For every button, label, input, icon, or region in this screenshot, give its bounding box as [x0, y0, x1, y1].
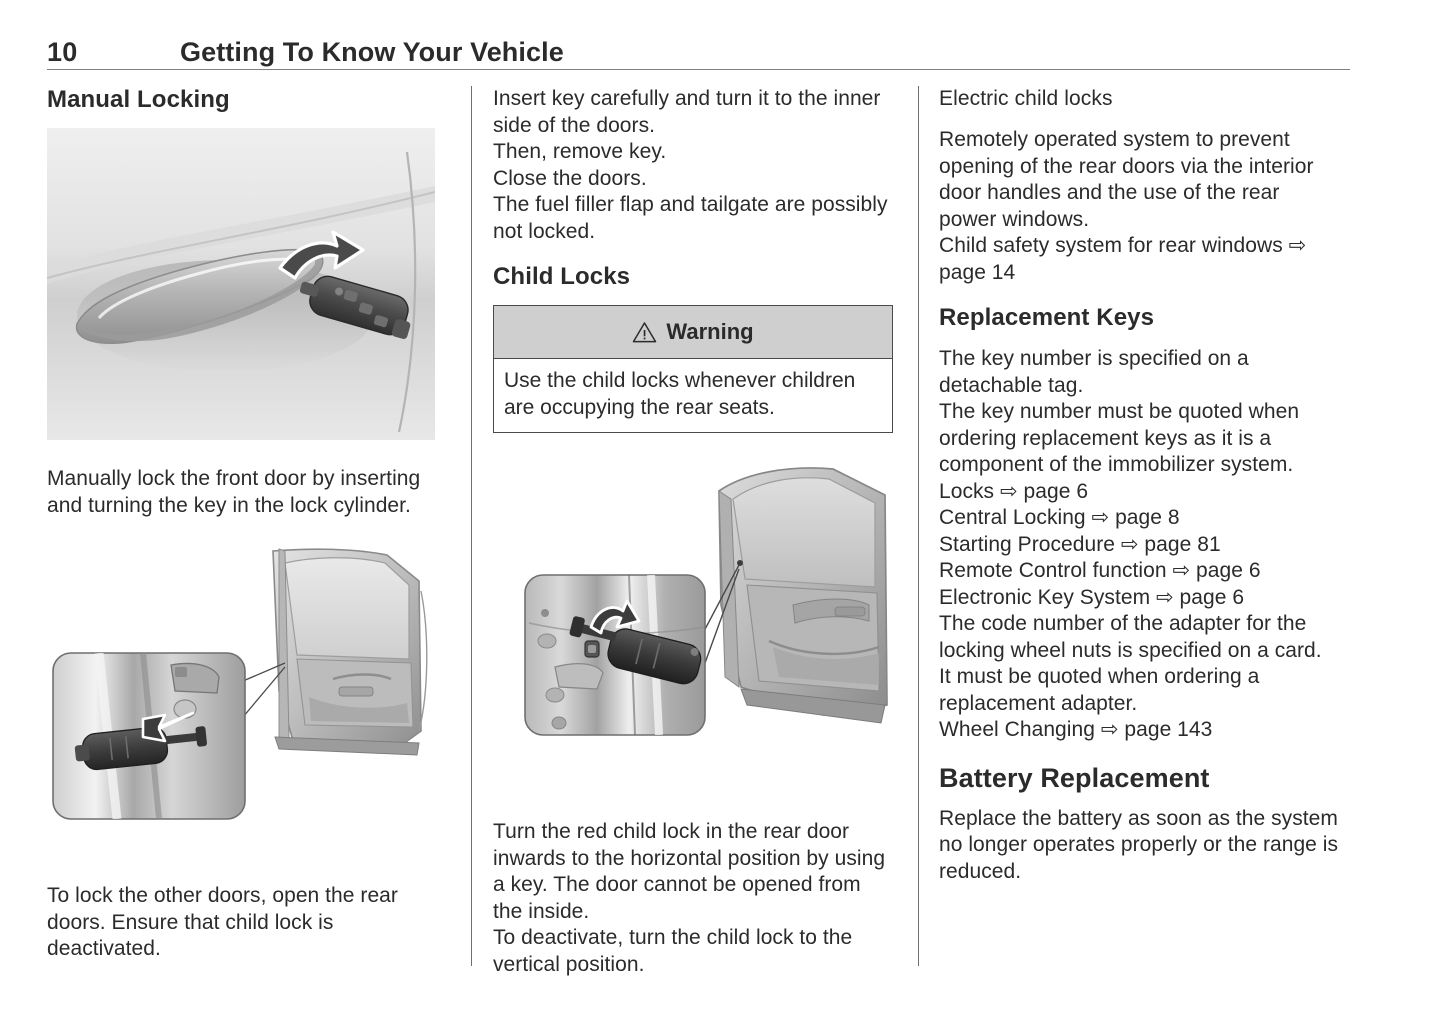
- page-title: Getting To Know Your Vehicle: [180, 36, 564, 68]
- warning-box-body: Use the child locks whenever children ar…: [494, 359, 892, 432]
- header-divider-rule: [47, 69, 1350, 70]
- heading-child-locks: Child Locks: [493, 263, 895, 291]
- paragraph-remote-operated-system: Remotely operated system to prevent open…: [939, 127, 1339, 233]
- figure-door-jamb-lock: [47, 541, 437, 841]
- figure-door-handle-key: [47, 128, 435, 440]
- paragraph-key-number-quoted: The key number must be quoted when order…: [939, 399, 1339, 479]
- crossref-electronic-key-system: Electronic Key System ⇨ page 6: [939, 585, 1339, 612]
- warning-triangle-icon: [632, 321, 657, 343]
- warning-box: Warning Use the child locks whenever chi…: [493, 305, 893, 433]
- crossref-starting-procedure: Starting Procedure ⇨ page 81: [939, 532, 1339, 559]
- paragraph-deactivate-child-lock: To deactivate, turn the child lock to th…: [493, 925, 895, 978]
- subheading-electric-child-locks: Electric child locks: [939, 86, 1339, 111]
- warning-box-header: Warning: [494, 306, 892, 359]
- paragraph-remove-key: Then, remove key.: [493, 139, 895, 166]
- door-handle-key-illustration: [47, 128, 435, 440]
- paragraph-lock-other-doors: To lock the other doors, open the rear d…: [47, 883, 442, 963]
- crossref-locks: Locks ⇨ page 6: [939, 479, 1339, 506]
- warning-title: Warning: [666, 319, 753, 345]
- paragraph-fuel-flap-tailgate: The fuel filler flap and tailgate are po…: [493, 192, 895, 245]
- crossref-central-locking: Central Locking ⇨ page 8: [939, 505, 1339, 532]
- page-header: 10 Getting To Know Your Vehicle: [47, 36, 1350, 70]
- rear-door-child-lock-illustration: [493, 455, 893, 775]
- column-divider-left: [471, 86, 472, 966]
- heading-battery-replacement: Battery Replacement: [939, 762, 1339, 794]
- right-column: Electric child locks Remotely operated s…: [939, 86, 1339, 885]
- crossref-child-safety-system: Child safety system for rear windows ⇨ p…: [939, 233, 1339, 286]
- paragraph-insert-key: Insert key carefully and turn it to the …: [493, 86, 895, 139]
- paragraph-close-doors: Close the doors.: [493, 166, 895, 193]
- page-number: 10: [47, 36, 77, 68]
- paragraph-adapter-code-number: The code number of the adapter for the l…: [939, 611, 1339, 717]
- heading-manual-locking: Manual Locking: [47, 86, 442, 114]
- door-jamb-lock-illustration: [47, 541, 437, 841]
- paragraph-turn-child-lock: Turn the red child lock in the rear door…: [493, 819, 895, 925]
- warning-text: Use the child locks whenever children ar…: [504, 368, 882, 421]
- paragraph-replace-battery: Replace the battery as soon as the syste…: [939, 806, 1339, 886]
- middle-column: Insert key carefully and turn it to the …: [493, 86, 895, 978]
- left-column: Manual Locking: [47, 86, 442, 963]
- heading-replacement-keys: Replacement Keys: [939, 304, 1339, 332]
- column-divider-right: [918, 86, 919, 966]
- crossref-wheel-changing: Wheel Changing ⇨ page 143: [939, 717, 1339, 744]
- paragraph-key-number-tag: The key number is specified on a detacha…: [939, 346, 1339, 399]
- crossref-remote-control-function: Remote Control function ⇨ page 6: [939, 558, 1339, 585]
- paragraph-manual-lock-front-door: Manually lock the front door by insertin…: [47, 466, 442, 519]
- figure-rear-door-child-lock: [493, 455, 893, 775]
